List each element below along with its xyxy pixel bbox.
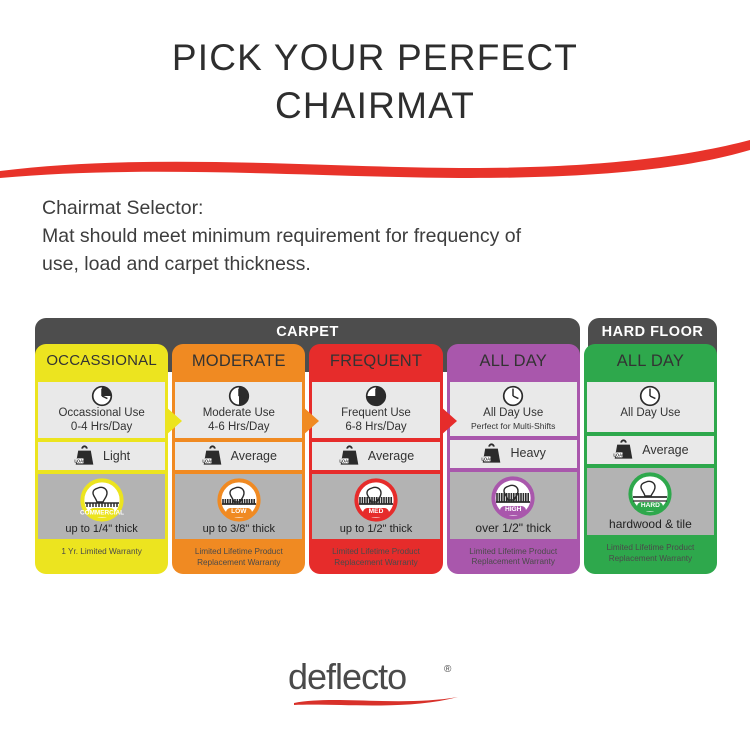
column-body-1: Occassional Use0-4 Hrs/DayLOADLightCOMME…: [35, 378, 168, 569]
warranty-cell-5: Limited Lifetime ProductReplacement Warr…: [587, 539, 714, 566]
thickness-label-5: hardwood & tile: [589, 516, 712, 531]
usage-line-1-2: Moderate Use: [177, 407, 300, 421]
load-cell-5: LOADAverage: [587, 436, 714, 464]
carpet-pile-med-icon: MED: [354, 478, 398, 522]
load-weight-icon: LOAD: [612, 439, 635, 460]
warranty-cell-2: Limited Lifetime ProductReplacement Warr…: [175, 543, 302, 570]
warranty-line-1-1: 1 Yr. Limited Warranty: [40, 547, 163, 558]
usage-line-1-3: Frequent Use: [314, 407, 437, 421]
thickness-cell-5: HARDhardwood & tile: [587, 468, 714, 535]
usage-cell-3: Frequent Use6-8 Hrs/Day: [312, 382, 439, 438]
page-title-line-2: CHAIRMAT: [0, 82, 750, 130]
carpet-pile-high-icon: HIGH: [491, 476, 535, 520]
warranty-cell-4: Limited Lifetime ProductReplacement Warr…: [450, 543, 577, 570]
header-swoosh-divider: [0, 138, 750, 178]
chairmat-selector-table: CARPET HARD FLOOR OCCASSIONALOccassional…: [35, 318, 717, 588]
warranty-line-2-3: Replacement Warranty: [314, 558, 437, 569]
warranty-line-1-3: Limited Lifetime Product: [314, 547, 437, 558]
clock-quarter-icon: [40, 385, 163, 407]
column-title-3: FREQUENT: [309, 344, 442, 378]
svg-text:LOAD: LOAD: [202, 459, 214, 464]
column-title-4: ALL DAY: [447, 344, 580, 378]
load-weight-icon: LOAD: [480, 443, 503, 464]
usage-line-1-4: All Day Use: [452, 407, 575, 421]
column-title-5: ALL DAY: [584, 344, 717, 378]
usage-line-2-1: 0-4 Hrs/Day: [40, 421, 163, 435]
page-header: PICK YOUR PERFECT CHAIRMAT: [0, 0, 750, 130]
flow-arrow-2: [301, 404, 321, 438]
load-cell-2: LOADAverage: [175, 442, 302, 470]
usage-line-1-1: Occassional Use: [40, 407, 163, 421]
flow-arrow-3: [439, 404, 459, 438]
selector-columns: OCCASSIONALOccassional Use0-4 Hrs/DayLOA…: [35, 344, 717, 574]
usage-line-2-2: 4-6 Hrs/Day: [177, 421, 300, 435]
thickness-label-4: over 1/2" thick: [452, 520, 575, 535]
column-title-1: OCCASSIONAL: [35, 344, 168, 378]
flow-arrow-1: [164, 404, 184, 438]
warranty-line-2-2: Replacement Warranty: [177, 558, 300, 569]
selector-column-2[interactable]: MODERATEModerate Use4-6 Hrs/DayLOADAvera…: [172, 344, 305, 574]
load-cell-1: LOADLight: [38, 442, 165, 470]
swoosh-shape: [0, 138, 750, 178]
usage-line-2-3: 6-8 Hrs/Day: [314, 421, 437, 435]
thickness-cell-2: LOWup to 3/8" thick: [175, 474, 302, 539]
warranty-line-1-2: Limited Lifetime Product: [177, 547, 300, 558]
load-weight-icon: LOAD: [338, 445, 361, 466]
intro-line-3: use, load and carpet thickness.: [42, 250, 702, 278]
column-body-4: All Day UsePerfect for Multi-ShiftsLOADH…: [447, 378, 580, 570]
infographic-page: PICK YOUR PERFECT CHAIRMAT Chairmat Sele…: [0, 0, 750, 750]
warranty-line-2-5: Replacement Warranty: [589, 554, 712, 565]
intro-text: Chairmat Selector: Mat should meet minim…: [42, 194, 702, 278]
usage-cell-4: All Day UsePerfect for Multi-Shifts: [450, 382, 577, 436]
load-label-2: Average: [231, 449, 277, 463]
group-header-carpet-label: CARPET: [276, 324, 339, 340]
group-header-hard-floor-label: HARD FLOOR: [602, 324, 704, 340]
registered-mark: ®: [444, 664, 452, 675]
thickness-cell-1: COMMERCIALup to 1/4" thick: [38, 474, 165, 539]
selector-column-5[interactable]: ALL DAYAll Day UseLOADAverageHARDhardwoo…: [584, 344, 717, 574]
load-label-5: Average: [642, 443, 688, 457]
load-label-4: Heavy: [510, 446, 545, 460]
selector-column-3[interactable]: FREQUENTFrequent Use6-8 Hrs/DayLOADAvera…: [309, 344, 442, 574]
clock-half-icon: [177, 385, 300, 407]
warranty-cell-1: 1 Yr. Limited Warranty: [38, 543, 165, 569]
column-title-2: MODERATE: [172, 344, 305, 378]
page-title-line-1: PICK YOUR PERFECT: [0, 34, 750, 82]
intro-line-2: Mat should meet minimum requirement for …: [42, 222, 702, 250]
column-body-3: Frequent Use6-8 Hrs/DayLOADAverageMEDup …: [309, 378, 442, 570]
deflecto-logo: deflecto ®: [0, 655, 750, 718]
clock-full-icon: [452, 385, 575, 407]
load-weight-icon: LOAD: [73, 445, 96, 466]
selector-column-1[interactable]: OCCASSIONALOccassional Use0-4 Hrs/DayLOA…: [35, 344, 168, 574]
usage-subnote-4: Perfect for Multi-Shifts: [452, 421, 575, 432]
brand-text: deflecto: [288, 656, 406, 697]
load-label-1: Light: [103, 449, 130, 463]
load-weight-icon: LOAD: [201, 445, 224, 466]
logo-swoosh: [294, 697, 458, 706]
clock-three-quarter-icon: [314, 385, 437, 407]
thickness-cell-4: HIGHover 1/2" thick: [450, 472, 577, 539]
deflecto-wordmark: deflecto ®: [280, 655, 470, 713]
hard-floor-icon: HARD: [628, 472, 672, 516]
thickness-label-2: up to 3/8" thick: [177, 522, 300, 535]
usage-cell-5: All Day Use: [587, 382, 714, 432]
column-body-5: All Day UseLOADAverageHARDhardwood & til…: [584, 378, 717, 566]
column-body-2: Moderate Use4-6 Hrs/DayLOADAverageLOWup …: [172, 378, 305, 570]
warranty-line-1-5: Limited Lifetime Product: [589, 543, 712, 554]
svg-text:LOAD: LOAD: [482, 456, 494, 461]
selector-column-4[interactable]: ALL DAYAll Day UsePerfect for Multi-Shif…: [447, 344, 580, 574]
thickness-label-3: up to 1/2" thick: [314, 522, 437, 535]
warranty-line-1-4: Limited Lifetime Product: [452, 547, 575, 558]
usage-cell-1: Occassional Use0-4 Hrs/Day: [38, 382, 165, 438]
carpet-pile-low-icon: LOW: [217, 478, 261, 522]
svg-text:COMMERCIAL: COMMERCIAL: [80, 510, 124, 517]
warranty-cell-3: Limited Lifetime ProductReplacement Warr…: [312, 543, 439, 570]
load-cell-4: LOADHeavy: [450, 440, 577, 468]
intro-line-1: Chairmat Selector:: [42, 194, 702, 222]
load-cell-3: LOADAverage: [312, 442, 439, 470]
warranty-line-2-4: Replacement Warranty: [452, 557, 575, 568]
svg-text:LOAD: LOAD: [339, 459, 351, 464]
svg-text:LOAD: LOAD: [74, 459, 86, 464]
usage-cell-2: Moderate Use4-6 Hrs/Day: [175, 382, 302, 438]
thickness-cell-3: MEDup to 1/2" thick: [312, 474, 439, 539]
usage-line-1-5: All Day Use: [589, 407, 712, 421]
svg-text:LOAD: LOAD: [614, 453, 626, 458]
carpet-pile-commercial-icon: COMMERCIAL: [80, 478, 124, 522]
load-label-3: Average: [368, 449, 414, 463]
clock-full-icon: [589, 385, 712, 407]
thickness-label-1: up to 1/4" thick: [40, 522, 163, 535]
